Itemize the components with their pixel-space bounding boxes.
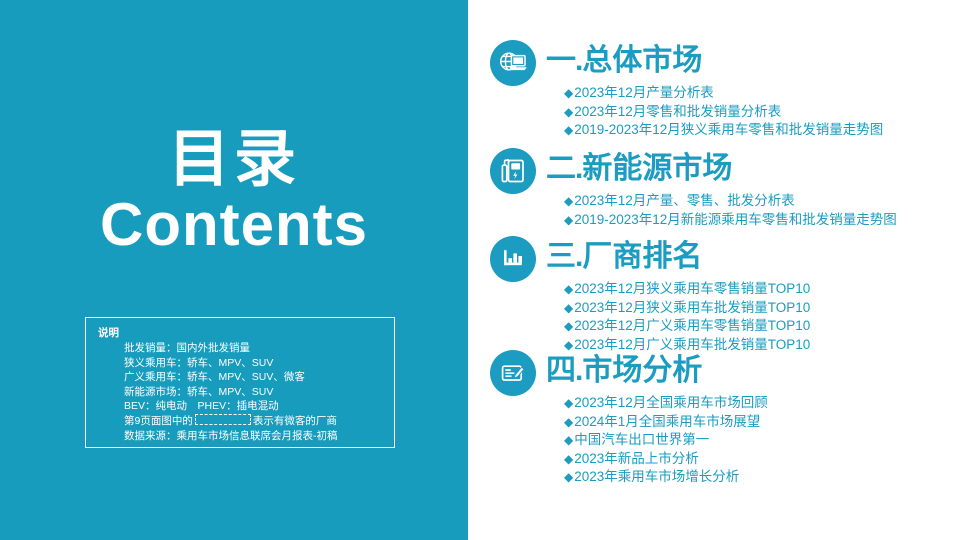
toc-section-number: 四. [546, 354, 582, 387]
toc-item-label: 2019-2023年12月狭义乘用车零售和批发销量走势图 [574, 122, 883, 137]
toc-section-items: ◆2023年12月产量分析表 ◆2023年12月零售和批发销量分析表 ◆2019… [564, 84, 960, 140]
toc-item-label: 2023年12月广义乘用车零售销量TOP10 [574, 318, 810, 333]
toc-item-label: 2023年12月狭义乘用车零售销量TOP10 [574, 281, 810, 296]
diamond-bullet-icon: ◆ [564, 103, 573, 122]
note-line: 广义乘用车：轿车、MPV、SUV、微客 [124, 370, 388, 385]
dashed-box-marker [195, 414, 251, 425]
diamond-bullet-icon: ◆ [564, 431, 573, 450]
toc-item-label: 2023年乘用车市场增长分析 [574, 469, 739, 484]
toc-panel: 一.总体市场 ◆2023年12月产量分析表 ◆2023年12月零售和批发销量分析… [468, 0, 960, 540]
diamond-bullet-icon: ◆ [564, 317, 573, 336]
note-dashbox-prefix: 第9页面图中的 [124, 415, 193, 427]
diamond-bullet-icon: ◆ [564, 394, 573, 413]
diamond-bullet-icon: ◆ [564, 211, 573, 230]
note-line: 新能源市场：轿车、MPV、SUV [124, 385, 388, 400]
diamond-bullet-icon: ◆ [564, 299, 573, 318]
toc-item-label: 2023年新品上市分析 [574, 451, 699, 466]
note-line: 批发销量：国内外批发销量 [124, 341, 388, 356]
note-dashbox-suffix: 表示有微客的厂商 [253, 415, 337, 427]
toc-item[interactable]: ◆2019-2023年12月新能源乘用车零售和批发销量走势图 [564, 211, 960, 230]
toc-item-label: 2023年12月广义乘用车批发销量TOP10 [574, 337, 810, 352]
page-title-chinese: 目录 [0, 128, 468, 191]
toc-section-items: ◆2023年12月全国乘用车市场回顾 ◆2024年1月全国乘用车市场展望 ◆中国… [564, 394, 960, 487]
toc-item[interactable]: ◆2023年12月产量、零售、批发分析表 [564, 192, 960, 211]
left-title-panel: 目录 Contents 说明 批发销量：国内外批发销量 狭义乘用车：轿车、MPV… [0, 0, 468, 540]
document-pen-icon [490, 350, 536, 396]
toc-item[interactable]: ◆2023年12月狭义乘用车零售销量TOP10 [564, 280, 960, 299]
slide-root: 目录 Contents 说明 批发销量：国内外批发销量 狭义乘用车：轿车、MPV… [0, 0, 960, 540]
toc-section-title: 总体市场 [582, 44, 702, 77]
note-line: 数据来源：乘用车市场信息联席会月报表-初稿 [124, 429, 388, 444]
globe-computer-icon [490, 40, 536, 86]
note-line: BEV：纯电动 PHEV：插电混动 [124, 399, 388, 414]
diamond-bullet-icon: ◆ [564, 192, 573, 211]
toc-section-heading: 四.市场分析 [546, 352, 702, 390]
notes-box: 说明 批发销量：国内外批发销量 狭义乘用车：轿车、MPV、SUV 广义乘用车：轿… [85, 317, 395, 448]
diamond-bullet-icon: ◆ [564, 413, 573, 432]
notes-list: 批发销量：国内外批发销量 狭义乘用车：轿车、MPV、SUV 广义乘用车：轿车、M… [124, 341, 388, 443]
toc-item-label: 2023年12月全国乘用车市场回顾 [574, 395, 768, 410]
toc-section-number: 一. [546, 44, 582, 77]
toc-item-label: 2023年12月狭义乘用车批发销量TOP10 [574, 300, 810, 315]
toc-section-heading: 二.新能源市场 [546, 150, 732, 188]
toc-item-label: 2024年1月全国乘用车市场展望 [574, 414, 760, 429]
diamond-bullet-icon: ◆ [564, 280, 573, 299]
toc-section-number: 二. [546, 152, 582, 185]
toc-section-title: 厂商排名 [582, 240, 702, 273]
toc-item[interactable]: ◆2023年12月全国乘用车市场回顾 [564, 394, 960, 413]
toc-item[interactable]: ◆2024年1月全国乘用车市场展望 [564, 413, 960, 432]
toc-item-label: 2023年12月零售和批发销量分析表 [574, 104, 781, 119]
toc-item[interactable]: ◆2023年12月广义乘用车零售销量TOP10 [564, 317, 960, 336]
title-block: 目录 Contents [0, 128, 468, 258]
toc-section-items: ◆2023年12月狭义乘用车零售销量TOP10 ◆2023年12月狭义乘用车批发… [564, 280, 960, 354]
toc-item-label: 2023年12月产量、零售、批发分析表 [574, 193, 795, 208]
charging-station-icon [490, 148, 536, 194]
toc-item[interactable]: ◆中国汽车出口世界第一 [564, 431, 960, 450]
diamond-bullet-icon: ◆ [564, 121, 573, 140]
toc-item-label: 中国汽车出口世界第一 [574, 432, 709, 447]
toc-item[interactable]: ◆2023年12月零售和批发销量分析表 [564, 103, 960, 122]
notes-title: 说明 [98, 325, 119, 340]
toc-section-title: 市场分析 [582, 354, 702, 387]
toc-section-heading: 一.总体市场 [546, 42, 702, 80]
toc-section-number: 三. [546, 240, 582, 273]
note-line: 狭义乘用车：轿车、MPV、SUV [124, 356, 388, 371]
toc-section-heading: 三.厂商排名 [546, 238, 702, 276]
note-line-with-dashbox: 第9页面图中的表示有微客的厂商 [124, 414, 388, 429]
page-title-english: Contents [0, 193, 468, 258]
toc-item-label: 2023年12月产量分析表 [574, 85, 714, 100]
toc-section-items: ◆2023年12月产量、零售、批发分析表 ◆2019-2023年12月新能源乘用… [564, 192, 960, 229]
toc-item[interactable]: ◆2023年新品上市分析 [564, 450, 960, 469]
toc-item[interactable]: ◆2019-2023年12月狭义乘用车零售和批发销量走势图 [564, 121, 960, 140]
diamond-bullet-icon: ◆ [564, 84, 573, 103]
toc-item[interactable]: ◆2023年乘用车市场增长分析 [564, 468, 960, 487]
bar-chart-icon [490, 236, 536, 282]
toc-item[interactable]: ◆2023年12月狭义乘用车批发销量TOP10 [564, 299, 960, 318]
toc-section-title: 新能源市场 [582, 152, 732, 185]
toc-item[interactable]: ◆2023年12月产量分析表 [564, 84, 960, 103]
toc-item-label: 2019-2023年12月新能源乘用车零售和批发销量走势图 [574, 212, 897, 227]
diamond-bullet-icon: ◆ [564, 468, 573, 487]
diamond-bullet-icon: ◆ [564, 450, 573, 469]
